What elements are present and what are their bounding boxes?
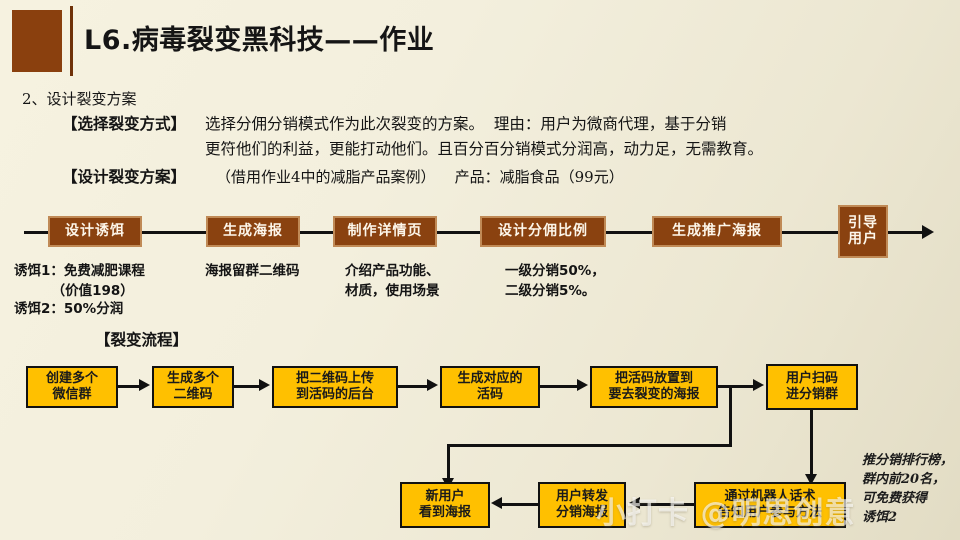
watermark: 小打卡 @明思创意 (596, 488, 855, 532)
connector-7 (502, 503, 538, 506)
chain-box-4[interactable]: 设计分佣比例 (480, 216, 606, 247)
chain-annotation-5: 一级分销50%， 二级分销5%。 (505, 262, 605, 301)
arrowhead-4-icon (577, 379, 588, 391)
slide-canvas: L6.病毒裂变黑科技——作业 2、设计裂变方案 【选择裂变方式】 选择分佣分销模… (0, 0, 960, 540)
arrowhead-5-icon (753, 379, 764, 391)
flow-box-create-groups[interactable]: 创建多个 微信群 (26, 366, 118, 408)
flow-box-new-user-sees-poster[interactable]: 新用户 看到海报 (400, 482, 490, 528)
connector-5 (718, 385, 755, 388)
chain-box-6[interactable]: 引导 用户 (838, 205, 888, 258)
chain-box-2[interactable]: 生成海报 (206, 216, 300, 247)
label-design-plan: 【设计裂变方案】 (62, 165, 186, 187)
arrowhead-3-icon (427, 379, 438, 391)
loop-connector-vertical-left (447, 444, 450, 482)
connector-3 (398, 385, 429, 388)
header-accent-square (12, 10, 62, 72)
chain-annotation-4: 介绍产品功能、 材质，使用场景 (345, 262, 440, 301)
flow-box-generate-qr[interactable]: 生成多个 二维码 (152, 366, 234, 408)
flow-box-place-livecode[interactable]: 把活码放置到 要去裂变的海报 (590, 366, 718, 408)
flow-box-user-scan[interactable]: 用户扫码 进分销群 (766, 364, 858, 410)
connector-scan-to-robot (810, 410, 813, 478)
loop-connector-horizontal (447, 444, 732, 447)
connector-2 (234, 385, 261, 388)
arrowhead-1-icon (139, 379, 150, 391)
arrowhead-2-icon (259, 379, 270, 391)
label-fission-flow: 【裂变流程】 (95, 328, 188, 350)
section-heading: 2、设计裂变方案 (22, 88, 137, 109)
chain-box-5[interactable]: 生成推广海报 (652, 216, 782, 247)
side-note-ranking: 推分销排行榜， 群内前20名， 可免费获得 诱饵2 (862, 452, 958, 527)
header-divider-rule (70, 6, 73, 76)
arrowhead-7-icon (491, 497, 502, 509)
page-title: L6.病毒裂变黑科技——作业 (84, 18, 434, 57)
chain-annotation-2: 诱饵2：50%分润 (14, 300, 123, 320)
label-choose-method: 【选择裂变方式】 (62, 112, 186, 134)
chain-box-3[interactable]: 制作详情页 (333, 216, 437, 247)
text-design-plan-detail: （借用作业4中的减脂产品案例） 产品：减脂食品（99元） (216, 166, 624, 187)
chain-annotation-1: 诱饵1：免费减肥课程 （价值198） (14, 262, 145, 301)
text-method-line-1: 选择分佣分销模式作为此次裂变的方案。 理由：用户为微商代理，基于分销 (205, 112, 726, 134)
connector-4 (540, 385, 579, 388)
text-method-line-2: 更符他们的利益，更能打动他们。且百分百分销模式分润高，动力足，无需教育。 (205, 137, 763, 159)
loop-connector-vertical-right (729, 386, 732, 446)
chain-annotation-3: 海报留群二维码 (205, 262, 300, 282)
chain-box-1[interactable]: 设计诱饵 (48, 216, 142, 247)
chain-baseline (24, 231, 928, 234)
flow-box-upload-qr[interactable]: 把二维码上传 到活码的后台 (272, 366, 398, 408)
chain-end-arrow-icon (922, 225, 934, 239)
connector-1 (118, 385, 141, 388)
flow-box-generate-livecode[interactable]: 生成对应的 活码 (440, 366, 540, 408)
